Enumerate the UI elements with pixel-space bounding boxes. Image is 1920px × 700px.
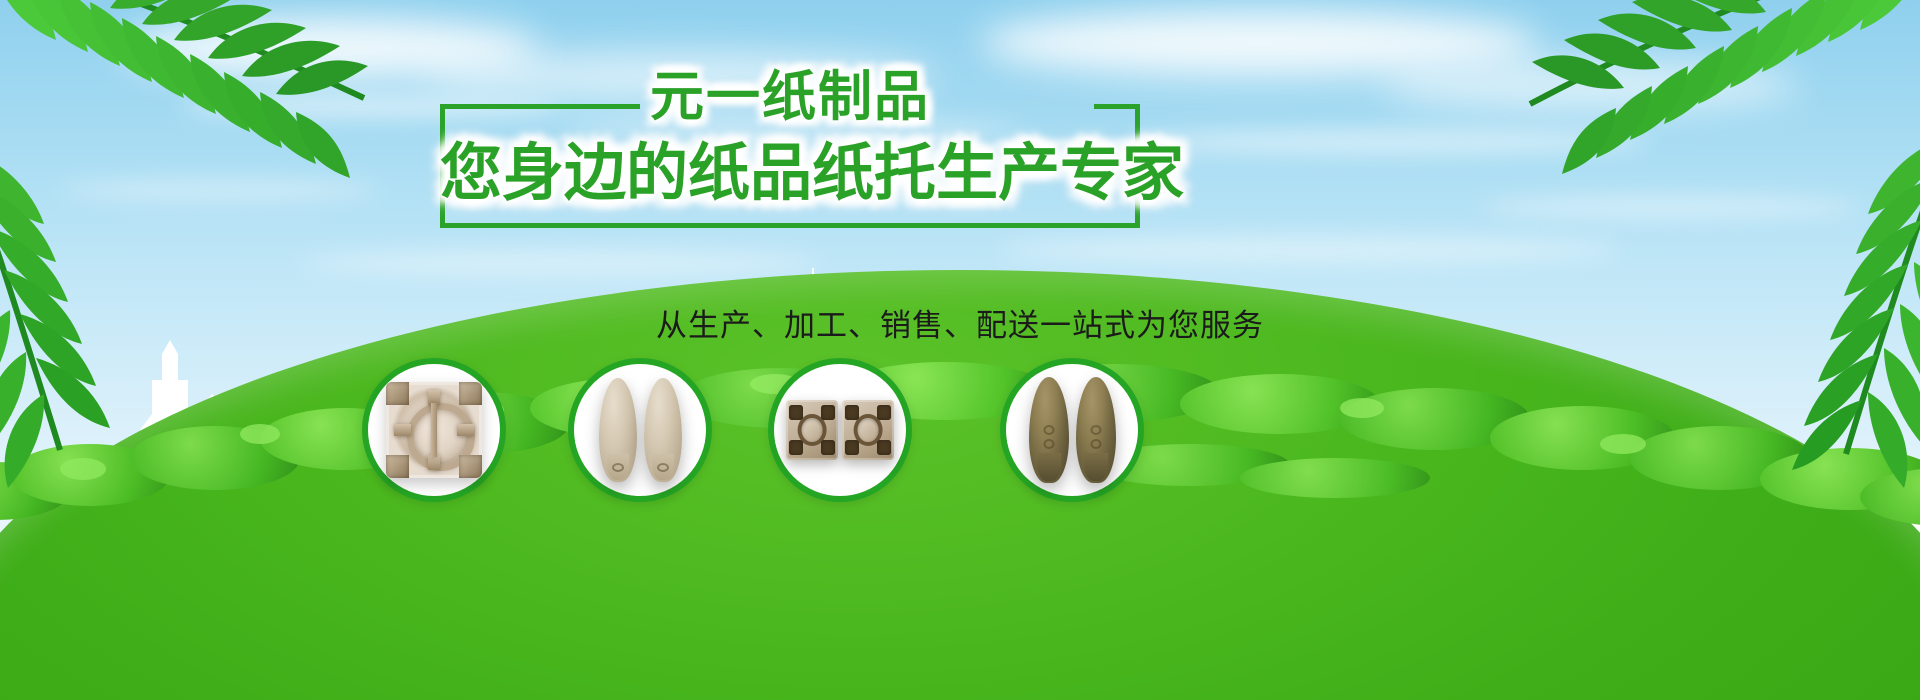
promo-banner: 元一纸制品 您身边的纸品纸托生产专家 从生产、加工、销售、配送一站式为您服务: [0, 0, 1920, 700]
paper-pulp-shoe-tree-light-icon: [599, 378, 682, 482]
frame-bottom-rule: [440, 223, 1140, 228]
banner-subtitle: 从生产、加工、销售、配送一站式为您服务: [0, 300, 1920, 345]
headline-frame: 元一纸制品 您身边的纸品纸托生产专家: [440, 104, 1140, 228]
molded-pulp-square-tray-icon: [386, 382, 482, 478]
product-circle-1[interactable]: [362, 358, 506, 502]
product-circle-3[interactable]: [768, 358, 912, 502]
paper-pulp-shoe-tree-dark-icon: [1029, 377, 1116, 483]
product-circle-4[interactable]: [1000, 358, 1144, 502]
headline-line-2: 您身边的纸品纸托生产专家: [440, 142, 1140, 204]
headline-line-1: 元一纸制品: [440, 70, 1140, 124]
product-circle-2[interactable]: [568, 358, 712, 502]
molded-pulp-block-pair-icon: [786, 400, 894, 460]
